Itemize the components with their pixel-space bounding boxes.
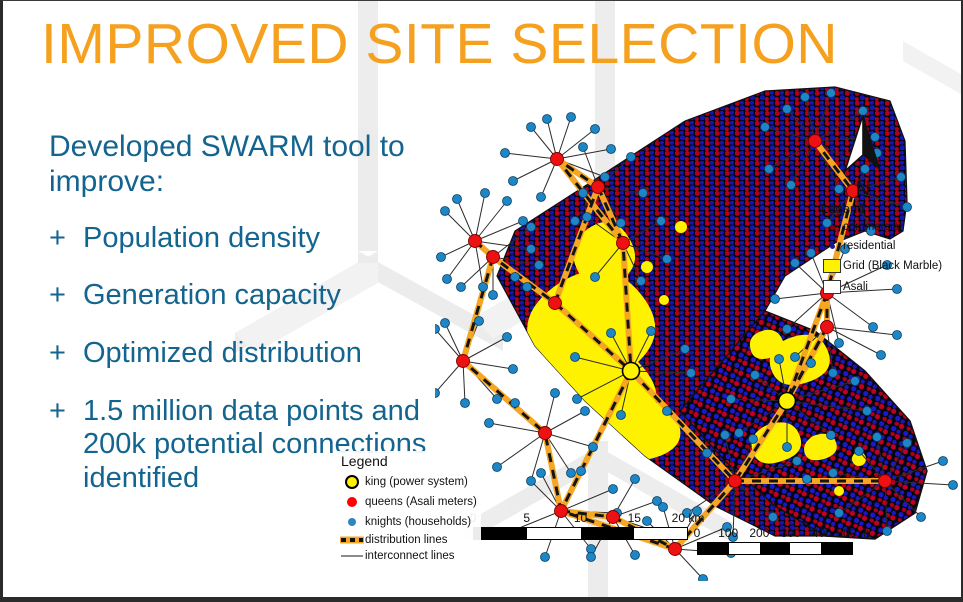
interconnect-line-icon xyxy=(339,551,365,561)
slide-canvas: IMPROVED SITE SELECTION Developed SWARM … xyxy=(0,0,963,602)
legend-item-distribution-lines: distribution lines xyxy=(339,534,477,546)
white-swatch-icon xyxy=(821,280,843,294)
scale-bar-km: 0 5 10 15 20 km xyxy=(473,511,688,540)
scale-km-ticks: 0 5 10 15 20 km xyxy=(473,511,688,527)
map-inset-legend: Legend commercial residential Grid (Blac… xyxy=(821,201,942,301)
scale-tick: 400 xyxy=(812,526,832,540)
scale-tick: 0 xyxy=(694,526,701,540)
inset-legend-item-asali: Asali xyxy=(821,280,942,294)
legend-item-interconnect-lines: interconnect lines xyxy=(339,550,477,562)
yellow-swatch-icon xyxy=(821,259,843,273)
page-title: IMPROVED SITE SELECTION xyxy=(41,15,838,75)
plus-bullet-icon: + xyxy=(49,279,83,313)
legend-item-king: king (power system) xyxy=(339,474,477,490)
scale-tick: 100 xyxy=(718,526,738,540)
legend-item-knights: knights (households) xyxy=(339,514,477,530)
inset-legend-label: Asali xyxy=(843,281,868,293)
scale-tick: 300 xyxy=(781,526,801,540)
scale-tick: 15 xyxy=(628,511,641,525)
knight-marker-icon xyxy=(339,514,365,530)
plus-bullet-icon: + xyxy=(49,222,83,256)
bullet-label: Optimized distribution xyxy=(83,337,479,371)
scale-tick: 20 km xyxy=(672,511,705,525)
north-arrow-label: N xyxy=(841,178,885,201)
bullet-item-generation: + Generation capacity xyxy=(49,279,479,313)
legend-label: interconnect lines xyxy=(365,550,455,562)
bullet-label: Generation capacity xyxy=(83,279,479,313)
king-marker-icon xyxy=(339,474,365,490)
bullet-item-population: + Population density xyxy=(49,222,479,256)
scale-tick: 200 xyxy=(749,526,769,540)
scale-tick: 10 xyxy=(574,511,587,525)
north-arrow-icon xyxy=(841,113,885,175)
main-legend: Legend king (power system) queens (Asali… xyxy=(337,451,481,568)
bullet-label: Population density xyxy=(83,222,479,256)
legend-label: distribution lines xyxy=(365,534,447,546)
north-arrow: N xyxy=(841,113,885,201)
scale-km-bar xyxy=(473,527,688,540)
plus-bullet-icon: + xyxy=(49,395,83,429)
inset-legend-item-residential: residential xyxy=(821,240,942,252)
inset-legend-label: residential xyxy=(843,240,895,252)
scale-m-ticks: 0 100 200 300 400 500 m xyxy=(697,526,853,542)
legend-item-queens: queens (Asali meters) xyxy=(339,494,477,510)
inset-legend-title: Legend xyxy=(821,201,942,216)
legend-label: king (power system) xyxy=(365,476,468,488)
main-legend-title: Legend xyxy=(341,453,477,469)
inset-legend-item-grid: Grid (Black Marble) xyxy=(821,259,942,273)
scale-m-bar xyxy=(697,542,853,555)
intro-text: Developed SWARM tool to improve: xyxy=(49,129,449,200)
dark-red-dot-icon xyxy=(821,225,843,230)
distribution-line-icon xyxy=(339,535,365,545)
inset-legend-item-commercial: commercial xyxy=(821,221,942,233)
bullet-item-distribution: + Optimized distribution xyxy=(49,337,479,371)
scale-tick: 5 xyxy=(523,511,530,525)
legend-label: knights (households) xyxy=(365,516,471,528)
scale-bar-m: 0 100 200 300 400 500 m xyxy=(697,526,853,555)
scale-tick: 500 m xyxy=(836,526,869,540)
queen-marker-icon xyxy=(339,494,365,510)
plus-bullet-icon: + xyxy=(49,337,83,371)
dark-blue-dot-icon xyxy=(821,244,843,249)
inset-legend-label: Grid (Black Marble) xyxy=(843,260,942,272)
inset-legend-label: commercial xyxy=(843,221,902,233)
legend-label: queens (Asali meters) xyxy=(365,496,477,508)
